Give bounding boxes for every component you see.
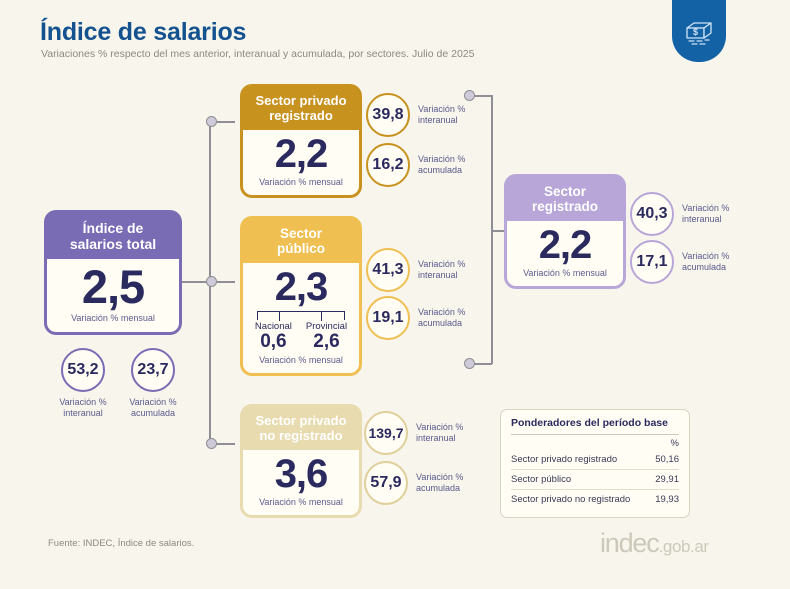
circle-sr-acumulada[interactable]: 17,1 Variación % acumulada bbox=[630, 240, 729, 284]
node-sr-body: 2,2 Variación % mensual bbox=[507, 221, 623, 286]
svg-text:$: $ bbox=[693, 27, 698, 37]
circle-spr-acumulada-value: 16,2 bbox=[366, 143, 410, 187]
circle-total-acumulada[interactable]: 23,7 Variación % acumulada bbox=[120, 348, 186, 420]
connector-dot-sp bbox=[206, 276, 217, 287]
node-spr-title-line2: registrado bbox=[269, 108, 333, 123]
connector-dot-spnr bbox=[206, 438, 217, 449]
ponderadores-row-2-value: 19,93 bbox=[651, 490, 679, 510]
table-row: Sector privado registrado 50,16 bbox=[511, 450, 679, 470]
ponderadores-header-row: % bbox=[511, 435, 679, 450]
circle-sr-interanual-label: Variación % interanual bbox=[682, 203, 729, 226]
circle-total-acumulada-label: Variación % acumulada bbox=[120, 397, 186, 420]
node-sr-value: 2,2 bbox=[513, 225, 617, 265]
circle-sp-acumulada[interactable]: 19,1 Variación % acumulada bbox=[366, 296, 465, 340]
circle-spnr-acumulada[interactable]: 57,9 Variación % acumulada bbox=[364, 461, 463, 505]
ponderadores-row-0-label: Sector privado registrado bbox=[511, 450, 651, 470]
circle-spnr-interanual-value: 139,7 bbox=[364, 411, 408, 455]
node-sp-header: Sector público bbox=[243, 219, 359, 263]
indec-logo-badge: $ bbox=[672, 0, 726, 62]
node-spnr-title-line1: Sector privado bbox=[255, 413, 346, 428]
split-nacional: Nacional 0,6 bbox=[255, 321, 292, 352]
page-title: Índice de salarios bbox=[40, 18, 246, 47]
node-total-title-line1: Índice de bbox=[83, 220, 144, 236]
node-sp-value: 2,3 bbox=[249, 267, 353, 307]
node-spr-header: Sector privado registrado bbox=[243, 87, 359, 130]
circle-sr-interanual[interactable]: 40,3 Variación % interanual bbox=[630, 192, 729, 236]
circle-spnr-acumulada-label: Variación % acumulada bbox=[416, 472, 463, 495]
split-bracket bbox=[257, 311, 345, 320]
node-sector-publico[interactable]: Sector público 2,3 Nacional 0,6 Provinci… bbox=[240, 216, 362, 376]
circle-spr-interanual-label: Variación % interanual bbox=[418, 104, 465, 127]
node-spnr-header: Sector privado no registrado bbox=[243, 407, 359, 450]
node-sp-title-line1: Sector bbox=[280, 226, 322, 241]
node-spr-value: 2,2 bbox=[249, 134, 353, 174]
circle-spnr-acumulada-value: 57,9 bbox=[364, 461, 408, 505]
node-sp-split-group: Nacional 0,6 Provincial 2,6 bbox=[249, 311, 353, 352]
infographic-canvas: Índice de salarios Variaciones % respect… bbox=[0, 0, 790, 589]
ponderadores-header-blank bbox=[511, 435, 651, 450]
connector-dot-spr bbox=[206, 116, 217, 127]
ponderadores-row-1-label: Sector público bbox=[511, 470, 651, 490]
brand-tld: .gob.ar bbox=[659, 537, 709, 556]
ponderadores-title: Ponderadores del período base bbox=[511, 417, 679, 435]
brand-name: indec bbox=[600, 528, 659, 558]
node-spnr-caption: Variación % mensual bbox=[249, 497, 353, 507]
node-sector-registrado[interactable]: Sector registrado 2,2 Variación % mensua… bbox=[504, 174, 626, 289]
node-sr-caption: Variación % mensual bbox=[513, 268, 617, 278]
circle-spr-acumulada-label: Variación % acumulada bbox=[418, 154, 465, 177]
circle-spnr-interanual[interactable]: 139,7 Variación % interanual bbox=[364, 411, 463, 455]
node-spr-caption: Variación % mensual bbox=[249, 177, 353, 187]
circle-sr-interanual-value: 40,3 bbox=[630, 192, 674, 236]
node-sector-privado-no-registrado[interactable]: Sector privado no registrado 3,6 Variaci… bbox=[240, 404, 362, 518]
node-spr-title-line1: Sector privado bbox=[255, 93, 346, 108]
circle-sp-interanual-label: Variación % interanual bbox=[418, 259, 465, 282]
node-total-value: 2,5 bbox=[53, 263, 173, 310]
table-row: Sector privado no registrado 19,93 bbox=[511, 490, 679, 510]
split-provincial-value: 2,6 bbox=[306, 332, 347, 352]
split-nacional-value: 0,6 bbox=[255, 332, 292, 352]
node-sp-title-line2: público bbox=[277, 241, 325, 256]
node-total-header: Índice de salarios total bbox=[47, 213, 179, 259]
ponderadores-row-0-value: 50,16 bbox=[651, 450, 679, 470]
ponderadores-row-2-label: Sector privado no registrado bbox=[511, 490, 651, 510]
node-sr-title-line1: Sector bbox=[544, 184, 586, 199]
node-spnr-title-line2: no registrado bbox=[259, 428, 342, 443]
node-sp-caption: Variación % mensual bbox=[249, 355, 353, 365]
connector-dot-right-bottom bbox=[464, 358, 475, 369]
ponderadores-table: Ponderadores del período base % Sector p… bbox=[500, 409, 690, 518]
circle-total-interanual-label: Variación % interanual bbox=[50, 397, 116, 420]
circle-total-acumulada-value: 23,7 bbox=[131, 348, 175, 392]
connector-dot-right-top bbox=[464, 90, 475, 101]
circle-sp-acumulada-value: 19,1 bbox=[366, 296, 410, 340]
node-total-title-line2: salarios total bbox=[70, 236, 156, 252]
node-indice-salarios-total[interactable]: Índice de salarios total 2,5 Variación %… bbox=[44, 210, 182, 335]
circle-sp-interanual[interactable]: 41,3 Variación % interanual bbox=[366, 248, 465, 292]
node-sr-title-line2: registrado bbox=[532, 199, 598, 214]
circle-total-interanual[interactable]: 53,2 Variación % interanual bbox=[50, 348, 116, 420]
page-subtitle: Variaciones % respecto del mes anterior,… bbox=[41, 48, 474, 60]
node-spnr-body: 3,6 Variación % mensual bbox=[243, 450, 359, 515]
node-spr-body: 2,2 Variación % mensual bbox=[243, 130, 359, 195]
node-sp-body: 2,3 Nacional 0,6 Provincial 2,6 bbox=[243, 263, 359, 373]
node-spnr-value: 3,6 bbox=[249, 454, 353, 494]
circle-sp-interanual-value: 41,3 bbox=[366, 248, 410, 292]
ponderadores-header-unit: % bbox=[651, 435, 679, 450]
table-row: Sector público 29,91 bbox=[511, 470, 679, 490]
cash-box-icon: $ bbox=[682, 14, 716, 48]
node-sr-header: Sector registrado bbox=[507, 177, 623, 221]
node-sector-privado-registrado[interactable]: Sector privado registrado 2,2 Variación … bbox=[240, 84, 362, 198]
ponderadores-row-1-value: 29,91 bbox=[651, 470, 679, 490]
circle-spr-interanual-value: 39,8 bbox=[366, 93, 410, 137]
circle-sr-acumulada-value: 17,1 bbox=[630, 240, 674, 284]
split-tick-nacional bbox=[279, 312, 280, 321]
circle-total-interanual-value: 53,2 bbox=[61, 348, 105, 392]
split-provincial: Provincial 2,6 bbox=[306, 321, 347, 352]
circle-sr-acumulada-label: Variación % acumulada bbox=[682, 251, 729, 274]
circle-spr-interanual[interactable]: 39,8 Variación % interanual bbox=[366, 93, 465, 137]
circle-sp-acumulada-label: Variación % acumulada bbox=[418, 307, 465, 330]
split-tick-provincial bbox=[321, 312, 322, 321]
indec-wordmark: indec.gob.ar bbox=[600, 528, 709, 559]
source-note: Fuente: INDEC, Índice de salarios. bbox=[48, 538, 194, 549]
node-total-body: 2,5 Variación % mensual bbox=[47, 259, 179, 332]
circle-spr-acumulada[interactable]: 16,2 Variación % acumulada bbox=[366, 143, 465, 187]
circle-spnr-interanual-label: Variación % interanual bbox=[416, 422, 463, 445]
node-total-caption: Variación % mensual bbox=[53, 313, 173, 323]
